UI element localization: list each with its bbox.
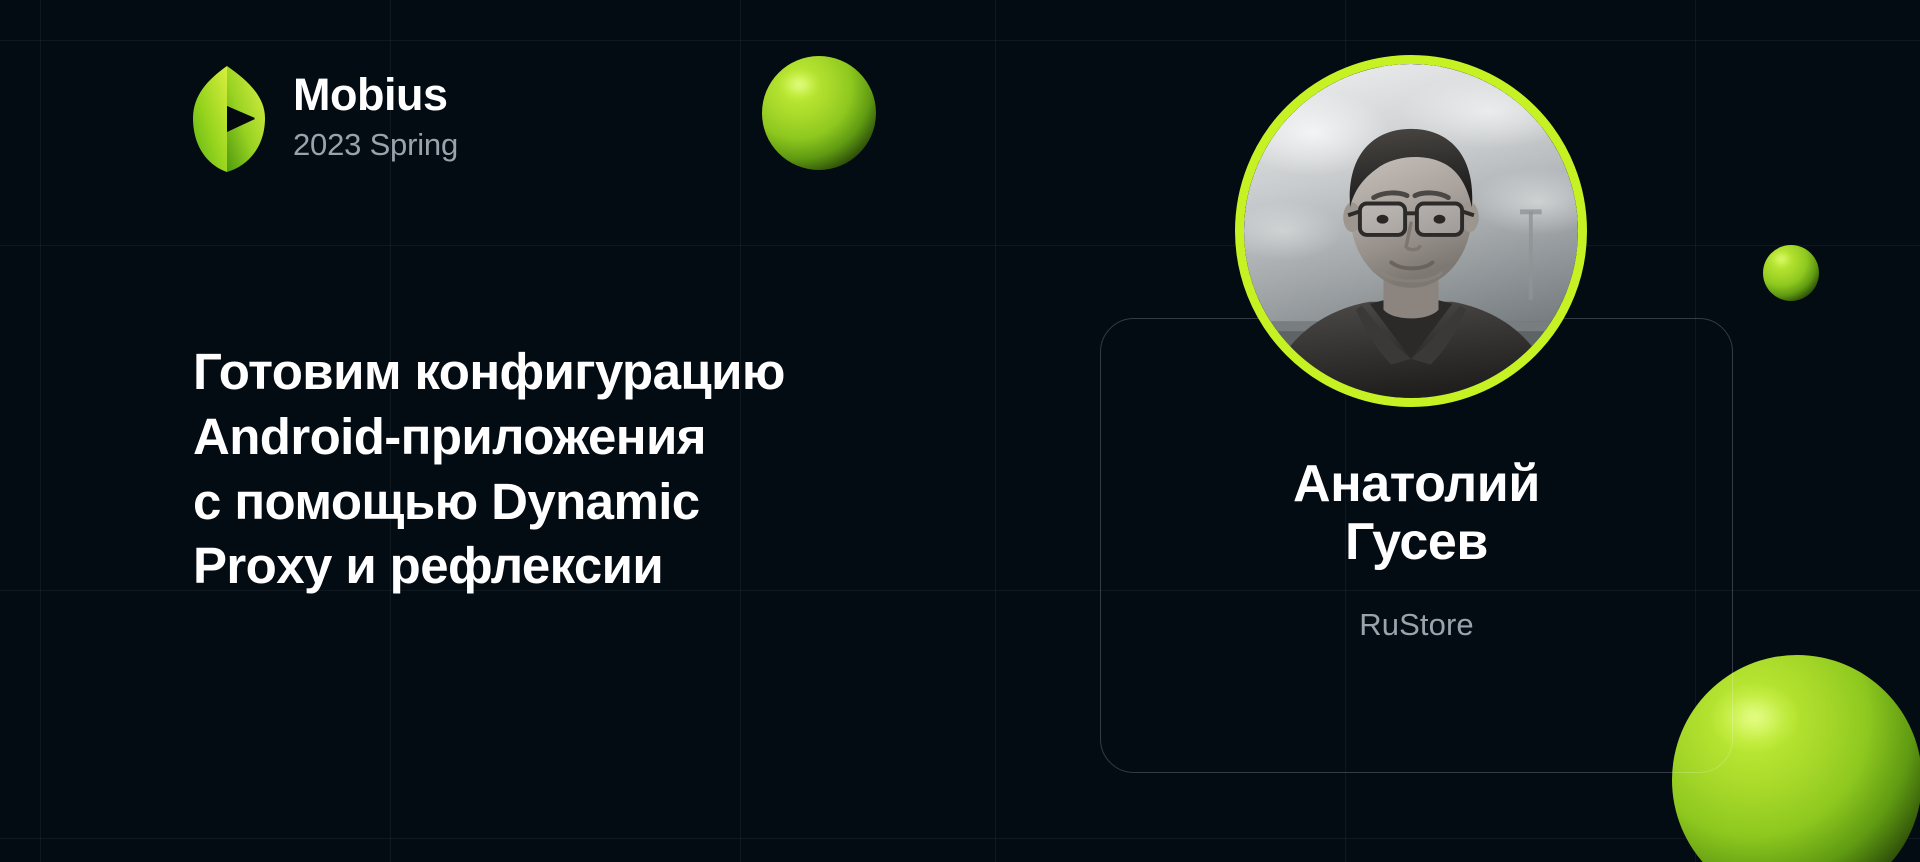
talk-title-line: Android-приложения [193, 405, 1013, 470]
decor-sphere-right [1763, 245, 1819, 301]
talk-title-line: Готовим конфигурацию [193, 340, 1013, 405]
talk-title-line: Proxy и рефлексии [193, 534, 1013, 599]
decor-sphere-top [762, 56, 876, 170]
talk-title-line: с помощью Dynamic [193, 470, 1013, 535]
speaker-name-line: Анатолий [1100, 455, 1733, 513]
logo-edition: 2023 Spring [293, 129, 458, 160]
speaker-name: Анатолий Гусев [1100, 455, 1733, 571]
speaker-name-line: Гусев [1100, 513, 1733, 571]
talk-title: Готовим конфигурацию Android-приложения … [193, 340, 1013, 599]
conference-slide: Mobius 2023 Spring Готовим конфигурацию … [0, 0, 1920, 862]
speaker-info: Анатолий Гусев RuStore [1100, 455, 1733, 643]
mobius-leaf-icon [193, 66, 265, 172]
avatar [1235, 55, 1587, 407]
logo-name: Mobius [293, 72, 458, 117]
speaker-company: RuStore [1100, 607, 1733, 643]
brand-logo: Mobius 2023 Spring [193, 66, 458, 172]
speaker-portrait-image [1244, 64, 1578, 398]
